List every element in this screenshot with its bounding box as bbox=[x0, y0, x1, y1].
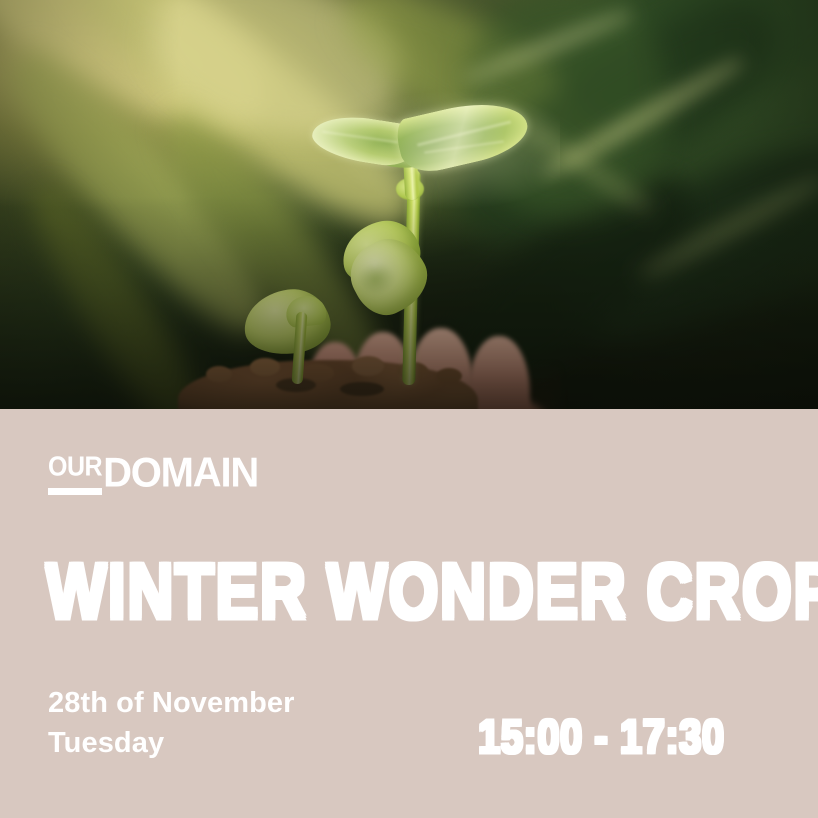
photo-bottom-vignette bbox=[0, 0, 818, 409]
logo-our-group: OUR bbox=[48, 453, 102, 495]
hero-photo bbox=[0, 0, 818, 409]
logo-our-text: OUR bbox=[48, 453, 102, 481]
event-poster: OUR DOMAIN WINTER WONDER CROPS 28th of N… bbox=[0, 0, 818, 818]
brand-logo[interactable]: OUR DOMAIN bbox=[48, 452, 258, 495]
event-date: 28th of November bbox=[48, 683, 295, 723]
event-date-block: 28th of November Tuesday bbox=[48, 683, 295, 763]
event-weekday: Tuesday bbox=[48, 723, 295, 763]
logo-underline-bar bbox=[48, 488, 102, 495]
logo-domain-text: DOMAIN bbox=[103, 452, 258, 494]
event-title: WINTER WONDER CROPS bbox=[46, 552, 818, 630]
event-time-range: 15:00 - 17:30 bbox=[478, 714, 725, 761]
